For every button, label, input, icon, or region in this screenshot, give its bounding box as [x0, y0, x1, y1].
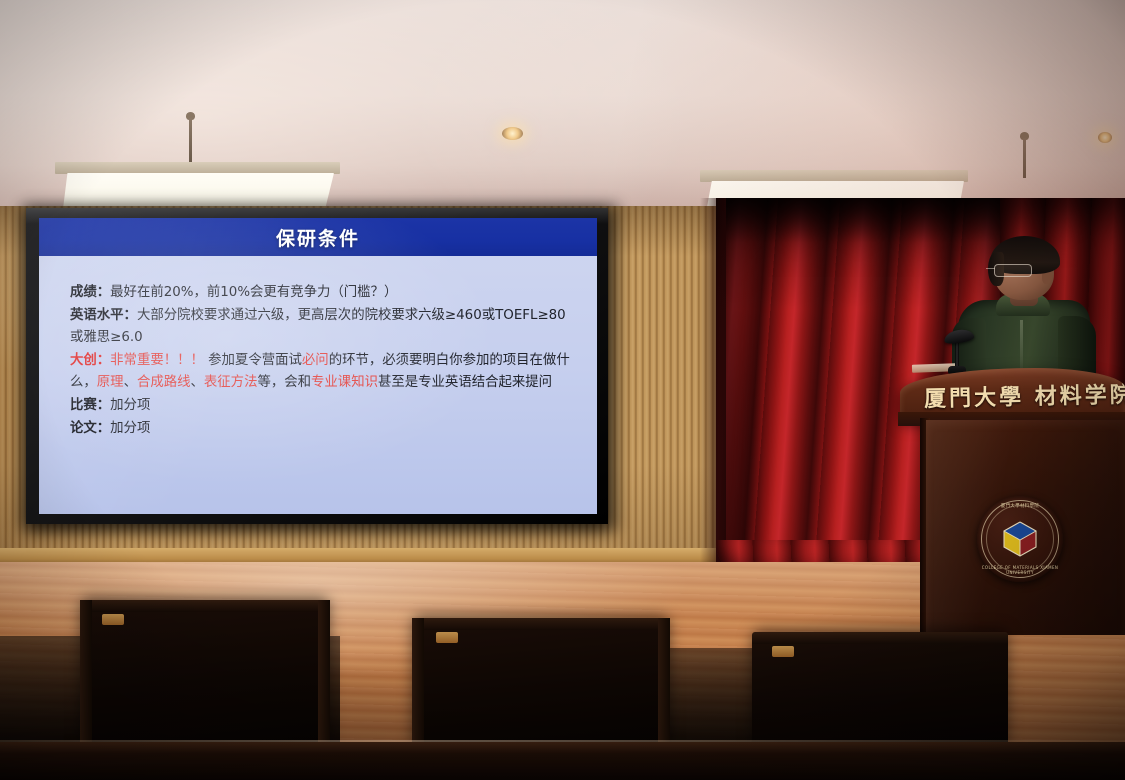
projection-screen-bezel: 保研条件 成绩：最好在前20%，前10%会更有竞争力（门槛？） 英语水平：大部分…	[26, 208, 608, 524]
slide-label-dachuang: 大创：	[70, 353, 110, 368]
slide-run-characterization: 表征方法	[204, 375, 258, 390]
light-hanger-knob	[186, 112, 195, 120]
slide-run-majorknowledge: 专业课知识	[311, 375, 378, 390]
seat-back	[80, 600, 330, 748]
panel-light-frame	[55, 162, 340, 174]
slide-label-bisai: 比赛：	[70, 398, 110, 413]
slide-run-principle: 原理	[97, 375, 124, 390]
seat-back	[752, 632, 1008, 750]
seat-back-top-rail	[412, 618, 670, 630]
slide-title-bar: 保研条件	[39, 218, 597, 256]
slide-text-chengji: 最好在前20%，前10%会更有竞争力（门槛？）	[110, 285, 397, 300]
seat-post	[412, 618, 424, 750]
slide-run-sep1: 、	[124, 375, 137, 390]
slide-run-sep2: 、	[191, 375, 204, 390]
ceiling-downlight	[502, 127, 523, 140]
seat-back	[412, 618, 670, 750]
seat-post	[318, 600, 330, 750]
light-hanger-knob	[1020, 132, 1029, 140]
slide-label-chengji: 成绩：	[70, 285, 110, 300]
slide-label-english: 英语水平：	[70, 308, 137, 323]
slide-run-synthesis: 合成路线	[137, 375, 191, 390]
speaker-person	[958, 242, 1090, 376]
seat-back-top-rail	[80, 600, 330, 612]
slide-line-english: 英语水平：大部分院校要求通过六级，更高层次的院校要求六级≥460或TOEFL≥8…	[70, 305, 575, 350]
curtain-shadow-edge	[700, 198, 726, 570]
slide-run-tail: 甚至是专业英语结合起来提问	[378, 375, 552, 390]
ceiling	[0, 0, 1125, 212]
university-emblem: 厦門大學材料學院 COLLEGE OF MATERIALS XIAMEN UNI…	[977, 496, 1063, 582]
slide-line-chengji: 成绩：最好在前20%，前10%会更有竞争力（门槛？）	[70, 282, 575, 305]
eyeglasses-icon	[994, 264, 1032, 277]
slide-title: 保研条件	[276, 224, 360, 251]
cube-logo-icon	[1000, 519, 1040, 559]
slide-label-lunwen: 论文：	[70, 421, 110, 436]
slide-text-english: 大部分院校要求通过六级，更高层次的院校要求六级≥460或TOEFL≥80或雅思≥…	[70, 308, 566, 346]
seat-back-top-rail	[752, 632, 1008, 644]
slide-run-camp: 参加夏令营面试	[204, 353, 302, 368]
slide-text-lunwen: 加分项	[110, 421, 150, 436]
light-hanger	[189, 118, 192, 162]
panel-light-frame	[700, 170, 968, 182]
seat-post	[80, 600, 92, 750]
seat-number-tag	[772, 646, 794, 657]
slide-line-bisai: 比赛：加分项	[70, 395, 575, 418]
podium-nameplate: 厦門大學 材料学院	[924, 377, 1125, 413]
emblem-english-text: COLLEGE OF MATERIALS XIAMEN UNIVERSITY	[977, 565, 1063, 575]
slide-run-veryimportant: 非常重要！！！	[110, 353, 204, 368]
lecture-hall-photo: 保研条件 成绩：最好在前20%，前10%会更有竞争力（门槛？） 英语水平：大部分…	[0, 0, 1125, 780]
seat-post	[658, 618, 670, 750]
slide-run-etc: 等，会和	[257, 375, 311, 390]
seat-number-tag	[436, 632, 458, 643]
slide-text-bisai: 加分项	[110, 398, 150, 413]
presentation-slide: 保研条件 成绩：最好在前20%，前10%会更有竞争力（门槛？） 英语水平：大部分…	[39, 218, 597, 514]
front-row-rail	[0, 742, 1125, 780]
light-hanger	[1023, 138, 1026, 178]
slide-line-dachuang: 大创：非常重要！！！ 参加夏令营面试必问的环节，必须要明白你参加的项目在做什么，…	[70, 350, 575, 395]
slide-line-lunwen: 论文：加分项	[70, 418, 575, 441]
seat-number-tag	[102, 614, 124, 625]
ceiling-downlight	[1098, 132, 1112, 143]
slide-run-mustask: 必问	[302, 353, 329, 368]
slide-body: 成绩：最好在前20%，前10%会更有竞争力（门槛？） 英语水平：大部分院校要求通…	[39, 256, 597, 514]
emblem-chinese-text: 厦門大學材料學院	[977, 503, 1063, 509]
